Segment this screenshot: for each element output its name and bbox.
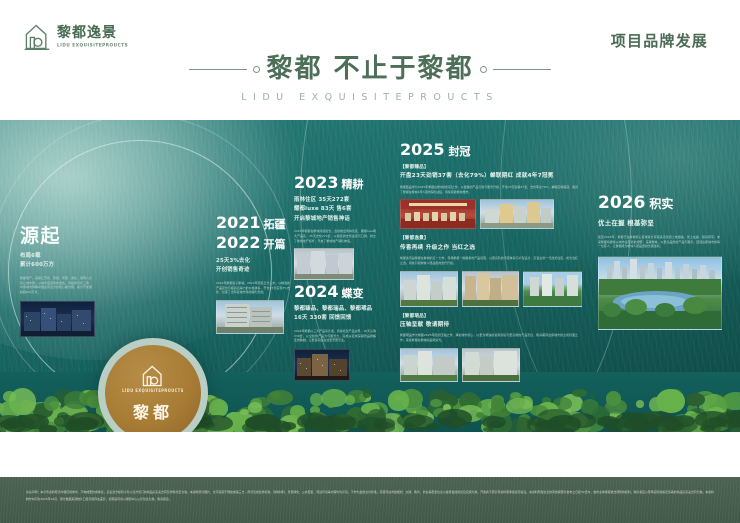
y2025-yijing-photo-2 <box>462 271 520 307</box>
y2025-yijing-photo-3 <box>523 271 582 307</box>
section-title: 项目品牌发展 <box>611 30 708 51</box>
y2023-line-3: 开启黎城地产销售神话 <box>294 215 380 224</box>
origin-heading: 源起 <box>20 226 98 247</box>
year-row-2022: 2022 开篇 <box>216 235 294 252</box>
y2023-line-1: 雨林住区 35天272套 <box>294 196 380 205</box>
white-spacer <box>0 432 740 477</box>
emblem-label-en: LIDU EXQUISITEPROUCTS <box>122 388 184 393</box>
y2025-zhenpin-body: 黎都臻品作为2025年黎都在黎城的封冠之作，以极致的产品打磨与服务升级，开盘23… <box>400 185 578 194</box>
year-row-2025: 2025 封冠 <box>400 142 582 159</box>
poster-root: 黎都逸景 LIDU EXQUISITEPROUCTS 项目品牌发展 黎都 不止于… <box>0 0 740 523</box>
y2025-junpin-photo-1 <box>400 348 458 382</box>
y2025-yijing-tag: 【黎都逸景】 <box>400 235 582 242</box>
year-2025: 2025 <box>400 142 445 158</box>
y2023-body: 2023年黎都在黎城持续加仓，连续推出雨林住区、耀都luxe两大产品系，35天去… <box>294 229 376 243</box>
year-row-2023: 2023 精耕 <box>294 175 380 192</box>
timeline-item-2023: 2023 精耕 雨林住区 35天272套 耀都luxe 83天 售6套 开启黎城… <box>294 175 380 280</box>
timeline-item-2024: 2024 蝶变 黎都臻品、黎都瑞品、黎都珺品 16天 330套 回馈回馈 202… <box>294 284 380 381</box>
poster-header: 黎都逸景 LIDU EXQUISITEPROUCTS 项目品牌发展 黎都 不止于… <box>0 0 740 120</box>
y2023-line-2: 耀都luxe 83天 售6套 <box>294 205 380 214</box>
y2025-junpin-body: 黎都珺品作为黎都2025年度的压轴之作，择址城市核心，以更为稀缺的资源禀赋与更高… <box>400 333 578 342</box>
year-2023: 2023 <box>294 175 339 191</box>
year-2021: 2021 <box>216 215 261 231</box>
y2024-line-2: 16天 330套 回馈回馈 <box>294 314 380 323</box>
disclaimer-text: 免责声明：本宣传资料所示内容仅供参考，不构成要约或承诺，买卖双方权利义务以双方签… <box>26 489 714 502</box>
rule-right <box>493 69 551 70</box>
origin-photo <box>20 301 95 337</box>
timeline-item-2026: 2026 积实 优土在握 根基弥坚 截至2025年，黎都已在黎城核心区域累计获取… <box>598 195 724 330</box>
y2025-block-junpin: 【黎都珺品】 压轴呈献 敬请期待 黎都珺品作为黎都2025年度的压轴之作，择址城… <box>400 313 582 382</box>
emblem-medallion: LIDU EXQUISITEPROUCTS 黎都 <box>105 345 201 432</box>
year-2024: 2024 <box>294 284 339 300</box>
year-2021-label: 拓疆 <box>264 216 286 232</box>
y2022-line-2: 开创销售奇迹 <box>216 266 294 275</box>
year-2026-label: 积实 <box>649 195 673 212</box>
poster-subtitle: LIDU EXQUISITEPROUCTS <box>0 92 740 103</box>
y2026-line-1: 优土在握 根基弥坚 <box>598 218 724 229</box>
y2023-photo <box>294 248 354 280</box>
y2025-junpin-photos <box>400 348 582 382</box>
y2025-yijing-photo-1 <box>400 271 458 307</box>
year-row-2026: 2026 积实 <box>598 195 724 212</box>
origin-line-2: 累计600万方 <box>20 261 98 270</box>
origin-line-1: 布局6载 <box>20 252 98 261</box>
emblem-label-cn: 黎都 <box>133 399 173 423</box>
y2026-photo <box>598 256 722 330</box>
year-2025-label: 封冠 <box>449 143 471 159</box>
y2025-zhenpin-photo-2 <box>480 199 554 229</box>
y2025-yijing-sub: 传香再续 升级之作 当红之选 <box>400 244 582 254</box>
poster-title-block: 黎都 不止于黎都 LIDU EXQUISITEPROUCTS <box>0 56 740 103</box>
rule-left <box>189 69 247 70</box>
year-2023-label: 精耕 <box>342 176 364 192</box>
brand-logo: 黎都逸景 LIDU EXQUISITEPROUCTS <box>22 22 128 52</box>
dot-right-icon <box>480 66 487 73</box>
y2026-body: 截至2025年，黎都已在黎城核心区域累计获取多宗优质土地储备，优土在握，根基弥坚… <box>598 235 720 249</box>
brand-wordmark: 黎都逸景 LIDU EXQUISITEPROUCTS <box>57 26 128 47</box>
y2025-yijing-photos <box>400 271 582 307</box>
y2025-block-zhenpin: 【黎都臻品】 开盘23天劲销37套（去化79%）蝉联期红 成就4年7冠冕 黎都臻… <box>400 164 582 229</box>
y2025-block-yijing: 【黎都逸景】 传香再续 升级之作 当红之选 黎都逸景是黎都在黎城的又一力作，传承… <box>400 235 582 306</box>
y2024-body: 2024年黎都以三大产品系齐发，持续拓宽产品边界，16天认购330套，以全新的产… <box>294 329 376 343</box>
timeline-item-2025: 2025 封冠 【黎都臻品】 开盘23天劲销37套（去化79%）蝉联期红 成就4… <box>400 142 582 382</box>
origin-body: 黎都地产，深耕江苏省、安徽、河南、湖北、湖南六大核心城市群，以城市运营商的姿态，… <box>20 276 92 295</box>
year-2022: 2022 <box>216 235 261 251</box>
poster-footer: 免责声明：本宣传资料所示内容仅供参考，不构成要约或承诺，买卖双方权利义务以双方签… <box>0 477 740 523</box>
year-2024-label: 蝶变 <box>342 285 364 301</box>
y2024-line-1: 黎都臻品、黎都瑞品、黎都珺品 <box>294 305 380 314</box>
house-logo-icon <box>139 364 167 388</box>
poster-title: 黎都 不止于黎都 <box>266 56 473 82</box>
y2022-photo <box>216 300 284 334</box>
y2022-body: 2021年黎都落子黎城，2022年项目正式入市，以精准的产品定位与极具竞争力的价… <box>216 281 290 295</box>
y2025-junpin-sub: 压轴呈献 敬请期待 <box>400 321 582 331</box>
year-2022-label: 开篇 <box>264 236 286 252</box>
y2025-yijing-body: 黎都逸景是黎都在黎城的又一力作，传承黎都一脉相承的产品基因，以更高阶的景观体系与… <box>400 256 578 265</box>
timeline-band: LIDU EXQUISITEPROUCTS 黎都 源起 布局6载 累计600万方… <box>0 120 740 432</box>
y2025-zhenpin-photos <box>400 199 582 229</box>
y2025-zhenpin-sub: 开盘23天劲销37套（去化79%）蝉联期红 成就4年7冠冕 <box>400 172 582 182</box>
timeline-item-origin: 源起 布局6载 累计600万方 黎都地产，深耕江苏省、安徽、河南、湖北、湖南六大… <box>20 226 98 337</box>
y2022-line-1: 25天3%去化 <box>216 257 294 266</box>
poster-title-row: 黎都 不止于黎都 <box>0 56 740 82</box>
y2024-photo <box>294 349 350 381</box>
brand-name-cn: 黎都逸景 <box>57 26 128 40</box>
dot-left-icon <box>253 66 260 73</box>
brand-name-en: LIDU EXQUISITEPROUCTS <box>57 43 128 48</box>
house-logo-icon <box>22 22 52 52</box>
year-row-2021: 2021 拓疆 <box>216 215 294 232</box>
y2025-zhenpin-photo-1 <box>400 199 476 229</box>
year-row-2024: 2024 蝶变 <box>294 284 380 301</box>
timeline-item-2021-2022: 2021 拓疆 2022 开篇 25天3%去化 开创销售奇迹 2021年黎都落子… <box>216 215 294 334</box>
y2025-zhenpin-tag: 【黎都臻品】 <box>400 164 582 171</box>
year-2026: 2026 <box>598 195 645 212</box>
y2025-junpin-tag: 【黎都珺品】 <box>400 313 582 320</box>
y2025-junpin-photo-2 <box>462 348 520 382</box>
